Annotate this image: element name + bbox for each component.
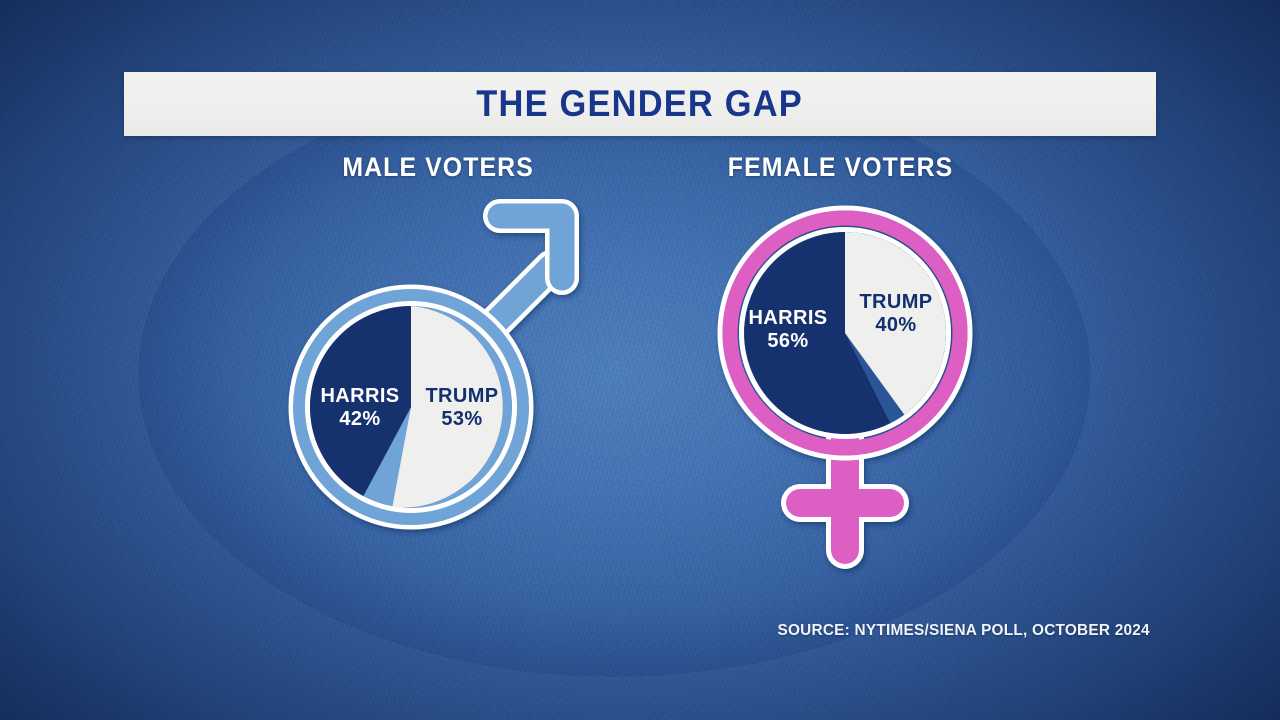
infographic-stage: THE GENDER GAP MALE VOTERS FEMALE VOTERS: [0, 0, 1280, 720]
female-gender-icon: [700, 196, 1000, 576]
page-title: THE GENDER GAP: [477, 83, 804, 125]
female-pie-chart: [744, 232, 946, 434]
title-band: THE GENDER GAP: [124, 72, 1156, 136]
male-gender-icon: [270, 190, 610, 550]
male-voters-heading: MALE VOTERS: [342, 152, 534, 183]
female-voters-heading: FEMALE VOTERS: [728, 152, 954, 183]
source-attribution: SOURCE: NYTIMES/SIENA POLL, OCTOBER 2024: [778, 622, 1150, 640]
